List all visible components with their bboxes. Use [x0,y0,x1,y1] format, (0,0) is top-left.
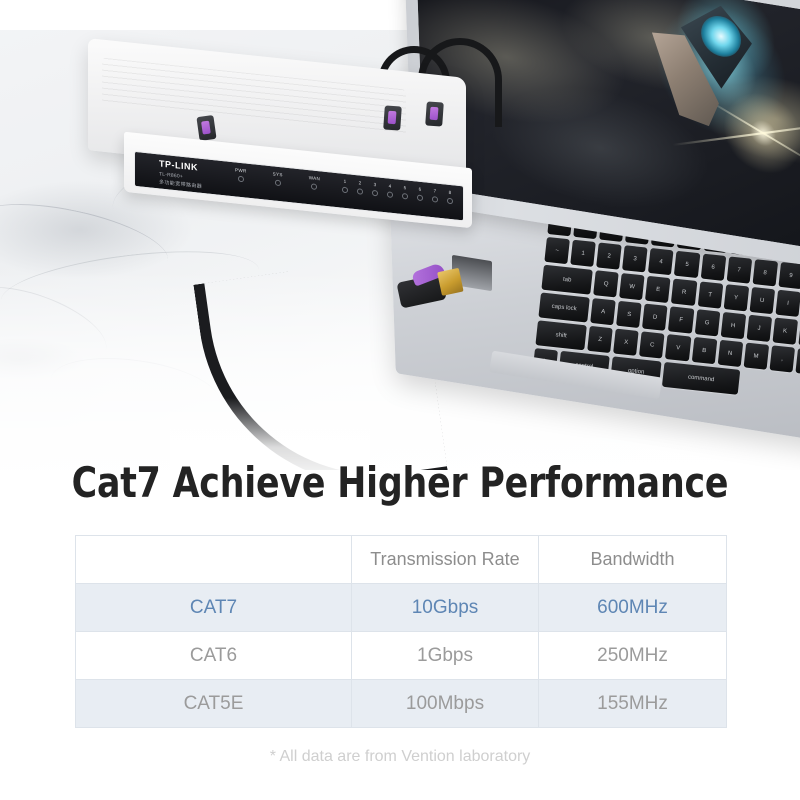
router-port: 6 [417,187,423,202]
keyboard-key: tab [541,265,593,295]
table-row: CAT6 1Gbps 250MHz [76,632,727,680]
router-port-group: 1 2 3 4 5 6 7 8 [342,179,453,205]
led-indicator [311,183,317,190]
cell-bandwidth: 250MHz [539,632,727,680]
router-led-sys: SYS [273,171,283,186]
keyboard-key: R [671,279,697,306]
cell-bandwidth: 155MHz [539,680,727,728]
keyboard-key: V [665,334,691,361]
router-vent-ridges [102,58,406,136]
keyboard-key: Z [587,326,613,353]
cell-category-name: CAT6 [76,632,352,680]
keyboard-key: J [746,315,772,342]
table-row: CAT5E 100Mbps 155MHz [76,680,727,728]
keyboard-key: 7 [726,256,752,283]
router-led-group: PWR SYS WAN [235,167,320,190]
led-indicator [402,193,408,200]
router-port: 7 [432,188,438,203]
router-port: 2 [357,180,363,195]
keyboard-key: K [772,317,798,344]
led-indicator [432,196,438,203]
page-title: Cat7 Achieve Higher Performance [32,458,768,507]
table-header-row: Transmission Rate Bandwidth [76,536,727,584]
table-header-bandwidth: Bandwidth [539,536,727,584]
router-port: 8 [447,190,453,205]
led-indicator [275,180,281,187]
router-port: 5 [402,185,408,200]
keyboard-key: I [775,290,800,317]
cell-category-name: CAT7 [76,584,352,632]
keyboard-key: F [668,306,694,333]
keyboard-key: . [795,348,800,375]
data-source-footnote: * All data are from Vention laboratory [0,748,800,766]
connector-gold-contacts [437,268,464,296]
led-indicator [372,190,378,197]
keyboard-key: shift [535,320,587,350]
keyboard-key: G [694,309,720,336]
router-brand-label: TP-LINK [159,158,198,172]
spaceship-graphic [646,0,761,165]
product-photo: esc ~ 1 2 3 4 5 6 7 8 [0,0,800,470]
led-indicator [357,188,363,195]
rj45-latch [201,121,211,135]
keyboard-key: X [613,329,639,356]
cell-transmission-rate: 1Gbps [352,632,539,680]
product-marketing-image: esc ~ 1 2 3 4 5 6 7 8 [0,0,800,800]
router-led-pwr: PWR [235,167,247,182]
keyboard-key: 9 [778,262,800,289]
rj45-latch [388,111,397,125]
keyboard-key: ~ [544,237,570,264]
keyboard-key: caps lock [538,292,590,322]
router-front-black-strip: TP-LINK TL-R860+ 多功能宽带路由器 PWR SYS [134,151,464,222]
keyboard-key: D [642,304,668,331]
led-indicator [387,191,393,198]
cell-transmission-rate: 10Gbps [352,584,539,632]
keyboard-key: S [616,301,642,328]
router-port: 4 [387,183,393,198]
keyboard-key: Q [593,270,619,297]
keyboard-key: N [717,340,743,367]
keyboard-key: Y [723,284,749,311]
marble-vein [0,271,116,380]
led-indicator [342,187,348,194]
keyboard-key: 8 [752,259,778,286]
tp-link-router: TP-LINK TL-R860+ 多功能宽带路由器 PWR SYS [88,58,466,238]
led-indicator [417,195,423,202]
keyboard-key: 2 [596,242,622,269]
cell-category-name: CAT5E [76,680,352,728]
keyboard-key: command [662,362,740,395]
keyboard-key: M [743,342,769,369]
rj45-latch [430,107,439,121]
table-header-blank [76,536,352,584]
keyboard-key: W [619,273,645,300]
keyboard-key: 3 [622,245,648,272]
keyboard-key: 4 [648,248,674,275]
router-model-cn-label: 多功能宽带路由器 [159,178,202,190]
led-indicator [447,198,453,205]
table-header-transmission-rate: Transmission Rate [352,536,539,584]
keyboard-key: T [697,281,723,308]
rj45-plug [383,105,402,130]
keyboard-key: E [645,276,671,303]
rj45-plug [196,115,216,141]
keyboard-key: 6 [700,254,726,281]
cell-transmission-rate: 100Mbps [352,680,539,728]
cell-bandwidth: 600MHz [539,584,727,632]
keyboard-key: 1 [570,240,596,267]
table-row: CAT7 10Gbps 600MHz [76,584,727,632]
keyboard-key: C [639,331,665,358]
router-port: 3 [372,182,378,197]
rj45-plug [425,101,444,126]
keyboard-key: B [691,337,717,364]
keyboard-key: , [769,345,795,372]
spec-comparison-table: Transmission Rate Bandwidth CAT7 10Gbps … [75,535,727,728]
router-port: 1 [342,179,348,194]
led-indicator [238,176,244,183]
router-led-wan: WAN [309,175,320,190]
keyboard-key: H [720,312,746,339]
keyboard-key: U [749,287,775,314]
keyboard-key: A [590,298,616,325]
keyboard-key: 5 [674,251,700,278]
